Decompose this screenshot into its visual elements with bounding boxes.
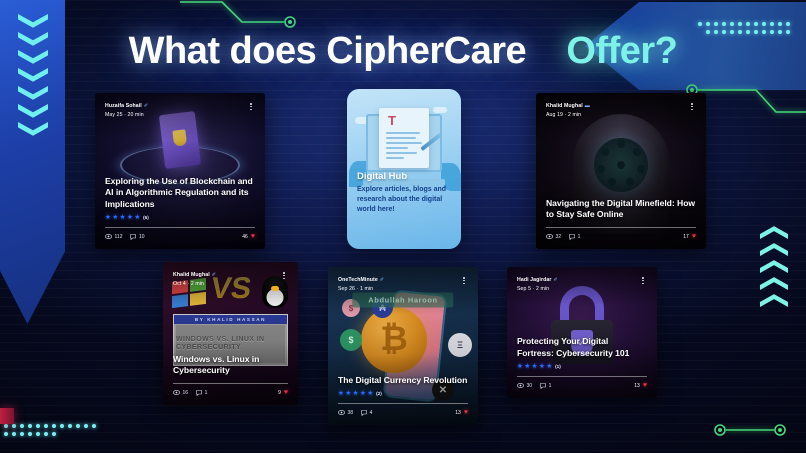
heart-icon: ♥ bbox=[692, 233, 696, 240]
page-title: What does CipherCare Offer? bbox=[0, 30, 806, 73]
comment-count: 4 bbox=[361, 410, 372, 416]
article-card-digital-currency[interactable]: ₿ ₳ $ $ Ξ ✕ Abdullah Haroon OneTechMinut… bbox=[328, 267, 478, 425]
page-title-main: What does CipherCare bbox=[129, 30, 527, 72]
star-icon: ★ bbox=[127, 215, 133, 222]
article-card-windows-vs-linux[interactable]: VS BY KHALID HASSAN WINDOWS VS. LINUX IN… bbox=[163, 262, 298, 405]
star-icon: ★ bbox=[539, 364, 545, 371]
card-title: Exploring the Use of Blockchain and AI i… bbox=[105, 176, 255, 211]
card-author-block: Khalid Mughal✐ Oct 4 · 2 min bbox=[173, 271, 216, 288]
comment-count: 1 bbox=[196, 390, 207, 396]
publish-date: Oct 4 bbox=[173, 281, 186, 287]
star-icon: ★ bbox=[345, 391, 351, 398]
chevron-up-icon bbox=[760, 293, 788, 307]
chevron-down-icon bbox=[18, 104, 48, 119]
comment-icon bbox=[196, 390, 202, 396]
publish-date: Sep 5 bbox=[517, 286, 531, 292]
comment-count: 10 bbox=[130, 234, 144, 240]
like-control[interactable]: 46 ♥ bbox=[242, 233, 255, 240]
chevron-up-icon bbox=[760, 276, 788, 290]
eye-icon bbox=[105, 234, 112, 239]
red-accent-bar bbox=[0, 408, 14, 424]
cloud-shape bbox=[433, 107, 447, 113]
star-icon: ★ bbox=[134, 215, 140, 222]
chevron-up-icon bbox=[760, 242, 788, 256]
verified-badge-icon: ✐ bbox=[212, 272, 216, 280]
like-count: 17 bbox=[683, 234, 689, 240]
article-card-blockchain[interactable]: Huzaifa Sohail✐ May 25 · 20 min Explorin… bbox=[95, 93, 265, 249]
card-author-block: OneTechMinute✐ Sep 26 · 1 min bbox=[338, 276, 384, 293]
comment-count: 1 bbox=[569, 234, 580, 240]
publish-date: Sep 26 bbox=[338, 286, 355, 292]
divider bbox=[105, 227, 255, 228]
read-time: 2 min bbox=[568, 112, 581, 118]
like-count: 13 bbox=[455, 410, 461, 416]
star-icon: ★ bbox=[532, 364, 538, 371]
kebab-menu-icon[interactable] bbox=[639, 276, 647, 285]
rating-stars[interactable]: ★ ★ ★ ★ ★ (6) bbox=[105, 215, 255, 222]
card-author-block: Huzaifa Sohail✐ May 25 · 20 min bbox=[105, 102, 148, 119]
star-icon: ★ bbox=[112, 215, 118, 222]
read-time: 2 min bbox=[191, 281, 204, 287]
chevron-up-icon bbox=[760, 259, 788, 273]
divider bbox=[338, 403, 468, 404]
kebab-menu-icon[interactable] bbox=[460, 276, 468, 285]
eye-icon bbox=[173, 390, 180, 395]
like-control[interactable]: 9 ♥ bbox=[278, 389, 288, 396]
right-chevron-group bbox=[760, 225, 788, 307]
eye-icon bbox=[338, 410, 345, 415]
article-card-minefield[interactable]: Khalid Mughal▬ Aug 19 · 2 min Navigating… bbox=[536, 93, 706, 249]
kebab-menu-icon[interactable] bbox=[247, 102, 255, 111]
star-icon: ★ bbox=[546, 364, 552, 371]
like-control[interactable]: 17 ♥ bbox=[683, 233, 696, 240]
author-name: Huzaifa Sohail bbox=[105, 103, 142, 109]
kebab-menu-icon[interactable] bbox=[280, 271, 288, 280]
divider bbox=[517, 376, 647, 377]
heart-icon: ♥ bbox=[643, 382, 647, 389]
meta-separator: · bbox=[565, 112, 567, 118]
star-icon: ★ bbox=[120, 215, 126, 222]
read-time: 2 min bbox=[536, 286, 549, 292]
card-author-block: Hadi Jagirdar✐ Sep 5 · 2 min bbox=[517, 276, 558, 293]
document-illustration: T bbox=[379, 108, 429, 168]
like-control[interactable]: 13 ♥ bbox=[455, 409, 468, 416]
chevron-up-icon bbox=[760, 225, 788, 239]
article-card-digital-fortress[interactable]: ✓ Hadi Jagirdar✐ Sep 5 · 2 min Protectin… bbox=[507, 267, 657, 398]
author-name: Khalid Mughal bbox=[546, 103, 583, 109]
card-title: The Digital Currency Revolution bbox=[338, 375, 468, 387]
read-time: 20 min bbox=[128, 112, 144, 118]
comment-icon bbox=[540, 383, 546, 389]
star-icon: ★ bbox=[360, 391, 366, 398]
verified-badge-icon: ▬ bbox=[585, 103, 590, 111]
hub-card-subtitle: Explore articles, blogs and research abo… bbox=[357, 185, 453, 215]
comment-icon bbox=[569, 234, 575, 240]
view-count: 112 bbox=[105, 234, 122, 240]
publish-date: May 25 bbox=[105, 112, 123, 118]
meta-separator: · bbox=[533, 286, 535, 292]
meta-separator: · bbox=[124, 112, 126, 118]
star-icon: ★ bbox=[367, 391, 373, 398]
eye-icon bbox=[517, 383, 524, 388]
rating-stars[interactable]: ★ ★ ★ ★ ★ (2) bbox=[338, 391, 468, 398]
hub-card-title: Digital Hub bbox=[357, 171, 453, 182]
verified-badge-icon: ✐ bbox=[380, 277, 384, 285]
heart-icon: ♥ bbox=[251, 233, 255, 240]
rating-count: (1) bbox=[555, 364, 561, 369]
divider bbox=[546, 227, 696, 228]
author-name: Khalid Mughal bbox=[173, 272, 210, 278]
verified-badge-icon: ✐ bbox=[553, 277, 557, 285]
doc-letter: T bbox=[388, 113, 396, 128]
verified-badge-icon: ✐ bbox=[144, 103, 148, 111]
star-icon: ★ bbox=[517, 364, 523, 371]
card-title: Protecting Your Digital Fortress: Cybers… bbox=[517, 336, 647, 359]
card-author-block: Khalid Mughal▬ Aug 19 · 2 min bbox=[546, 102, 590, 119]
comment-icon bbox=[130, 234, 136, 240]
divider bbox=[173, 383, 288, 384]
rating-stars[interactable]: ★ ★ ★ ★ ★ (1) bbox=[517, 364, 647, 371]
meta-separator: · bbox=[187, 281, 189, 287]
dot-grid-bottom-left bbox=[4, 424, 96, 436]
view-count: 30 bbox=[517, 383, 532, 389]
heart-icon: ♥ bbox=[284, 389, 288, 396]
view-count: 16 bbox=[173, 390, 188, 396]
chevron-down-icon bbox=[18, 122, 48, 137]
read-time: 1 min bbox=[360, 286, 373, 292]
digital-hub-card[interactable]: T Digital Hub Explore articles, blogs an… bbox=[347, 89, 461, 249]
kebab-menu-icon[interactable] bbox=[688, 102, 696, 111]
view-count: 38 bbox=[338, 410, 353, 416]
star-icon: ★ bbox=[338, 391, 344, 398]
like-count: 13 bbox=[634, 383, 640, 389]
heart-icon: ♥ bbox=[464, 409, 468, 416]
star-icon: ★ bbox=[105, 215, 111, 222]
chevron-down-icon bbox=[18, 14, 48, 29]
card-title: Navigating the Digital Minefield: How to… bbox=[546, 198, 696, 221]
star-icon: ★ bbox=[524, 364, 530, 371]
author-name: Hadi Jagirdar bbox=[517, 277, 551, 283]
chevron-down-icon bbox=[18, 86, 48, 101]
comment-count: 1 bbox=[540, 383, 551, 389]
circuit-trace-bottom-right bbox=[700, 415, 806, 445]
like-control[interactable]: 13 ♥ bbox=[634, 382, 647, 389]
meta-separator: · bbox=[357, 286, 359, 292]
author-name: OneTechMinute bbox=[338, 277, 378, 283]
card-title: Windows vs. Linux in Cybersecurity bbox=[173, 354, 288, 377]
rating-count: (2) bbox=[376, 391, 382, 396]
publish-date: Aug 19 bbox=[546, 112, 563, 118]
view-count: 32 bbox=[546, 234, 561, 240]
rating-count: (6) bbox=[143, 215, 149, 220]
star-icon: ★ bbox=[353, 391, 359, 398]
page-title-accent: Offer? bbox=[566, 30, 677, 72]
comment-icon bbox=[361, 410, 367, 416]
like-count: 46 bbox=[242, 234, 248, 240]
eye-icon bbox=[546, 234, 553, 239]
like-count: 9 bbox=[278, 390, 281, 396]
